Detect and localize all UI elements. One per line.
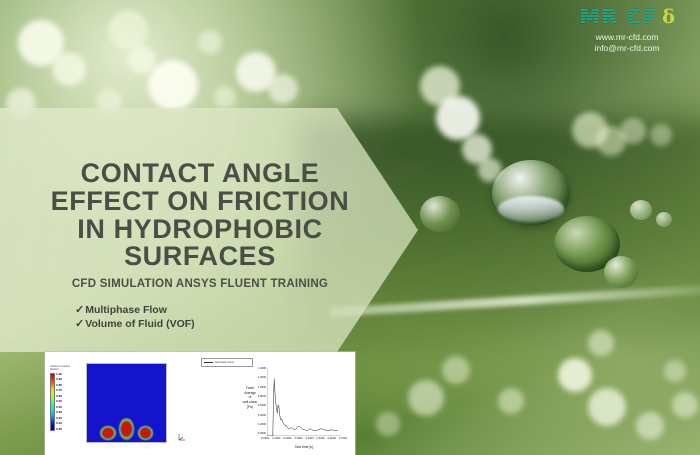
check-icon: ✓ <box>75 304 84 317</box>
contact-info: www.mr-cfd.com info@mr-cfd.com <box>562 32 692 54</box>
colorbar-tick: 0.70 <box>56 389 62 392</box>
y-tick: 0.4000 <box>258 415 266 418</box>
y-tick: 0.0000 <box>258 433 266 436</box>
y-tick: 0.8000 <box>258 396 266 399</box>
colorbar-tick: 0.10 <box>56 422 62 425</box>
legend-line-swatch <box>204 362 213 363</box>
x-tick: 0.3000 <box>294 438 302 441</box>
x-axis-ticks: 0.0000 0.1000 0.2000 0.3000 0.4000 0.500… <box>261 438 347 441</box>
colorbar-tick: 0.40 <box>56 406 62 409</box>
chart-legend: wall-shear-stress <box>201 358 253 367</box>
plot-area: 1.4000 1.2000 1.0000 0.8000 0.6000 0.400… <box>267 368 341 436</box>
poster-canvas: CONTACT ANGLE EFFECT ON FRICTION IN HYDR… <box>0 0 700 455</box>
colorbar-tick: 0.50 <box>56 400 62 403</box>
check-icon: ✓ <box>75 318 84 331</box>
wall-shear-line-chart: wall-shear-stress Facet Average of wall-… <box>193 356 351 451</box>
x-tick: 0.0000 <box>261 438 269 441</box>
page-title: CONTACT ANGLE EFFECT ON FRICTION IN HYDR… <box>35 160 365 271</box>
droplet-left <box>101 427 114 438</box>
legend-label: wall-shear-stress <box>215 361 234 364</box>
colorbar-ticks: 1.00 0.90 0.80 0.70 0.60 0.50 0.40 0.30 … <box>56 373 62 431</box>
x-tick: 0.5000 <box>317 438 325 441</box>
website-link[interactable]: www.mr-cfd.com <box>562 32 692 43</box>
y-tick: 0.2000 <box>258 424 266 427</box>
y-tick: 0.6000 <box>258 405 266 408</box>
feature-list: ✓ Multiphase Flow ✓ Volume of Fluid (VOF… <box>75 304 325 332</box>
colorbar-tick: 0.60 <box>56 395 62 398</box>
logo-wordmark: MR CF <box>579 5 658 29</box>
x-tick: 0.4000 <box>305 438 313 441</box>
droplet-center <box>121 419 132 438</box>
list-item: ✓ Multiphase Flow <box>75 304 325 318</box>
series-wall-shear-stress <box>267 368 341 436</box>
x-tick: 0.1000 <box>272 438 280 441</box>
x-tick: 0.2000 <box>283 438 291 441</box>
colorbar-tick: 0.20 <box>56 417 62 420</box>
cfd-results-panel: contour-1 volume fraction 1.00 0.90 0.80… <box>45 352 355 455</box>
y-tick: 1.4000 <box>258 368 266 371</box>
logo-delta-icon: δ <box>662 8 675 27</box>
email-link[interactable]: info@mr-cfd.com <box>562 43 692 54</box>
title-block: CONTACT ANGLE EFFECT ON FRICTION IN HYDR… <box>0 108 400 352</box>
page-subtitle: CFD SIMULATION ANSYS FLUENT TRAINING <box>72 278 328 290</box>
droplet-right <box>139 428 152 438</box>
colorbar-tick: 0.90 <box>56 378 62 381</box>
colorbar-tick: 0.80 <box>56 384 62 387</box>
colorbar-gradient <box>50 373 55 431</box>
logo-mark: MR CF δ <box>562 5 692 29</box>
x-tick: 0.6000 <box>328 438 336 441</box>
list-item: ✓ Volume of Fluid (VOF) <box>75 318 325 332</box>
colorbar-title: contour-1 volume fraction <box>50 366 76 372</box>
list-item-label: Multiphase Flow <box>85 304 167 318</box>
axis-triad-icon <box>177 432 187 442</box>
list-item-label: Volume of Fluid (VOF) <box>85 318 194 332</box>
contour-colorbar: contour-1 volume fraction 1.00 0.90 0.80… <box>50 366 76 431</box>
colorbar-tick: 0.00 <box>56 428 62 431</box>
y-tick: 1.0000 <box>258 387 266 390</box>
y-axis-ticks: 1.4000 1.2000 1.0000 0.8000 0.6000 0.400… <box>248 368 266 436</box>
vof-contour-plot <box>86 363 167 443</box>
colorbar-tick: 1.00 <box>56 373 62 376</box>
brand-logo[interactable]: MR CF δ www.mr-cfd.com info@mr-cfd.com <box>562 5 692 54</box>
x-axis-label: flow time [s] <box>267 445 341 449</box>
colorbar-tick: 0.30 <box>56 411 62 414</box>
x-tick: 0.7000 <box>339 438 347 441</box>
y-tick: 1.2000 <box>258 377 266 380</box>
